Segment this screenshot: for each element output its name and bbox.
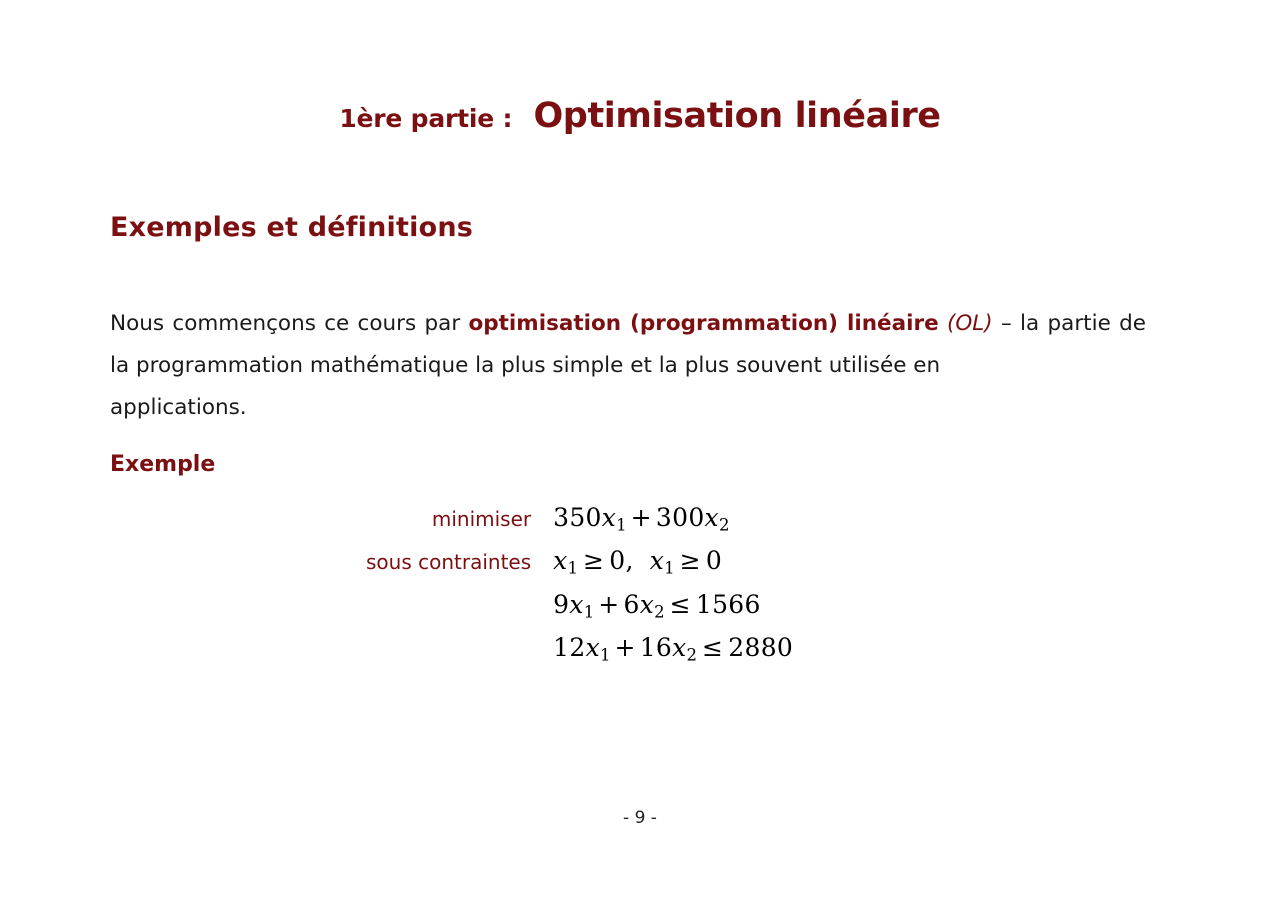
var-x1-c: x: [569, 590, 583, 619]
coef-12: 12: [553, 633, 585, 662]
paragraph-emphasis-bold: optimisation (programmation) linéaire: [468, 311, 938, 336]
sub-1: 1: [616, 515, 627, 534]
optimization-problem: minimiser 350x1+300x2 sous contraintes x…: [366, 500, 793, 673]
math-label-empty-2: [366, 630, 553, 673]
sub-2-d: 2: [687, 645, 698, 664]
coef-300: 300: [656, 503, 705, 532]
coef-9: 9: [553, 590, 569, 619]
operator-plus: +: [627, 503, 656, 532]
relation-leq-1: ≤: [665, 590, 696, 619]
example-label: Exemple: [110, 452, 215, 477]
operator-plus-3: +: [610, 633, 639, 662]
page-number: - 9 -: [0, 808, 1280, 828]
math-row-objective: minimiser 350x1+300x2: [366, 500, 793, 543]
page-title: 1ère partie : Optimisation linéaire: [0, 96, 1280, 136]
coef-6: 6: [624, 590, 640, 619]
math-label-minimiser: minimiser: [366, 500, 553, 543]
sub-1-b: 1: [664, 559, 675, 578]
math-expr-constraint-1: 9x1+6x2≤1566: [553, 587, 793, 630]
var-x1-d: x: [586, 633, 600, 662]
paragraph-line1-pre: Nous commençons ce cours par: [110, 311, 468, 336]
rhs-2880: 2880: [728, 633, 793, 662]
rhs-0-b: 0: [706, 546, 722, 575]
paragraph-line3: applications.: [110, 387, 1146, 429]
body-paragraph: Nous commençons ce cours par optimisatio…: [110, 303, 1146, 429]
var-x1: x: [602, 503, 616, 532]
math-table: minimiser 350x1+300x2 sous contraintes x…: [366, 500, 793, 673]
rhs-1566: 1566: [696, 590, 761, 619]
var-x2-d: x: [672, 633, 686, 662]
math-row-constraint-nonneg: sous contraintes x1≥0,x1≥0: [366, 543, 793, 586]
relation-leq-2: ≤: [697, 633, 728, 662]
math-expr-constraint-2: 12x1+16x2≤2880: [553, 630, 793, 673]
coef-16: 16: [640, 633, 672, 662]
sub-1-a: 1: [568, 559, 579, 578]
var-x1-a: x: [553, 546, 567, 575]
math-label-empty-1: [366, 587, 553, 630]
var-x2: x: [705, 503, 719, 532]
math-row-constraint-1: 9x1+6x2≤1566: [366, 587, 793, 630]
paragraph-emphasis-italic: (OL): [947, 311, 993, 336]
sub-2-c: 2: [654, 602, 665, 621]
operator-plus-2: +: [594, 590, 623, 619]
paragraph-line1-post: –: [993, 311, 1012, 336]
title-prefix: 1ère partie :: [339, 104, 512, 133]
sub-1-d: 1: [600, 645, 611, 664]
math-expr-nonnegativity: x1≥0,x1≥0: [553, 543, 793, 586]
relation-geq-a: ≥: [578, 546, 609, 575]
math-expr-objective: 350x1+300x2: [553, 500, 793, 543]
section-heading: Exemples et définitions: [110, 212, 473, 243]
math-label-sous-contraintes: sous contraintes: [366, 543, 553, 586]
separator-comma: ,: [626, 546, 634, 575]
relation-geq-b: ≥: [675, 546, 706, 575]
title-main: Optimisation linéaire: [533, 96, 940, 136]
var-x1-b: x: [650, 546, 664, 575]
sub-2: 2: [719, 515, 730, 534]
math-row-constraint-2: 12x1+16x2≤2880: [366, 630, 793, 673]
sub-1-c: 1: [584, 602, 595, 621]
coef-350: 350: [553, 503, 602, 532]
var-x2-c: x: [640, 590, 654, 619]
rhs-0-a: 0: [609, 546, 625, 575]
